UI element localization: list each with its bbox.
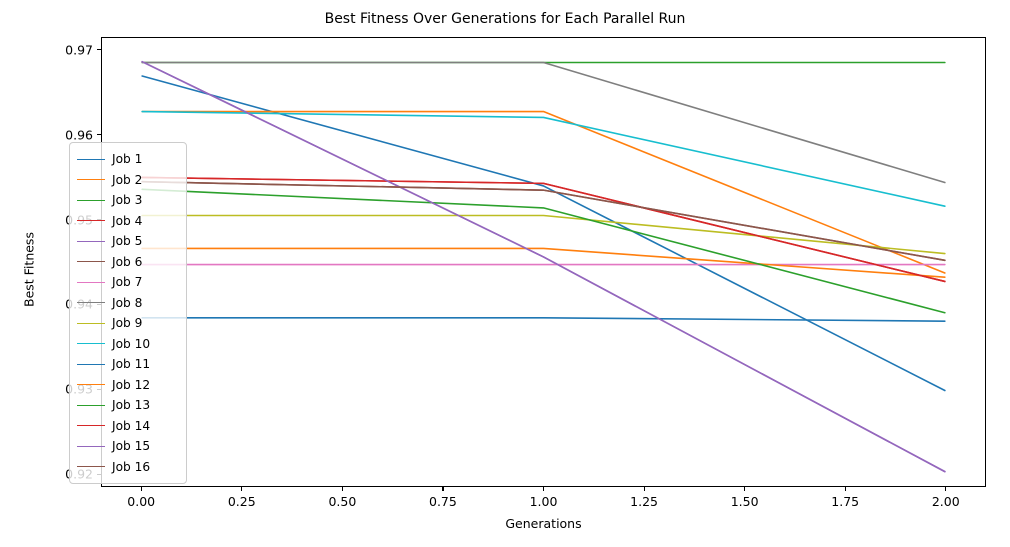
legend-color-swatch — [77, 405, 105, 406]
legend-label: Job 10 — [112, 338, 150, 350]
legend-color-swatch — [77, 282, 105, 283]
legend-label: Job 5 — [112, 235, 142, 247]
x-tick-label: 0.25 — [212, 494, 272, 509]
legend-item-job-6[interactable]: Job 6 — [77, 252, 179, 273]
legend-label: Job 13 — [112, 399, 150, 411]
line-series — [142, 76, 945, 390]
line-series — [142, 177, 945, 281]
x-axis-label: Generations — [101, 516, 986, 531]
legend-label: Job 6 — [112, 256, 142, 268]
legend-color-swatch — [77, 261, 105, 262]
legend-label: Job 3 — [112, 194, 142, 206]
legend-item-job-9[interactable]: Job 9 — [77, 313, 179, 334]
legend-color-swatch — [77, 446, 105, 447]
legend-color-swatch — [77, 343, 105, 344]
legend-item-job-5[interactable]: Job 5 — [77, 231, 179, 252]
legend-label: Job 4 — [112, 215, 142, 227]
x-tick-label: 1.00 — [514, 494, 574, 509]
legend-item-job-14[interactable]: Job 14 — [77, 416, 179, 437]
legend-item-job-13[interactable]: Job 13 — [77, 395, 179, 416]
legend-item-job-8[interactable]: Job 8 — [77, 293, 179, 314]
line-series — [142, 62, 945, 472]
legend-item-job-15[interactable]: Job 15 — [77, 436, 179, 457]
x-tick-mark — [342, 487, 343, 491]
legend-item-job-1[interactable]: Job 1 — [77, 149, 179, 170]
plot-area — [101, 37, 986, 487]
figure-canvas: Best Fitness Over Generations for Each P… — [0, 0, 1010, 547]
legend-item-job-3[interactable]: Job 3 — [77, 190, 179, 211]
legend-color-swatch — [77, 159, 105, 160]
x-tick-mark — [141, 487, 142, 491]
x-tick-label: 2.00 — [916, 494, 976, 509]
legend-color-swatch — [77, 466, 105, 467]
legend-item-job-7[interactable]: Job 7 — [77, 272, 179, 293]
legend-item-job-12[interactable]: Job 12 — [77, 375, 179, 396]
x-tick-label: 0.00 — [111, 494, 171, 509]
legend-color-swatch — [77, 323, 105, 324]
x-tick-mark — [543, 487, 544, 491]
legend-color-swatch — [77, 302, 105, 303]
x-tick-label: 0.50 — [312, 494, 372, 509]
x-tick-mark — [845, 487, 846, 491]
legend-label: Job 12 — [112, 379, 150, 391]
line-series — [142, 63, 945, 183]
x-tick-mark — [744, 487, 745, 491]
legend-item-job-11[interactable]: Job 11 — [77, 354, 179, 375]
line-series — [142, 318, 945, 321]
line-series — [142, 177, 945, 281]
y-tick-label: 0.97 — [33, 42, 93, 57]
legend-label: Job 2 — [112, 174, 142, 186]
legend-color-swatch — [77, 364, 105, 365]
legend-color-swatch — [77, 179, 105, 180]
legend-label: Job 14 — [112, 420, 150, 432]
line-series — [142, 189, 945, 312]
legend-label: Job 11 — [112, 358, 150, 370]
legend-label: Job 8 — [112, 297, 142, 309]
x-tick-label: 1.75 — [815, 494, 875, 509]
line-series — [142, 62, 945, 472]
x-tick-mark — [241, 487, 242, 491]
legend-item-job-10[interactable]: Job 10 — [77, 334, 179, 355]
x-tick-label: 1.50 — [715, 494, 775, 509]
chart-title: Best Fitness Over Generations for Each P… — [0, 11, 1010, 27]
legend-color-swatch — [77, 220, 105, 221]
legend-label: Job 16 — [112, 461, 150, 473]
y-tick-label: 0.96 — [33, 127, 93, 142]
legend-item-job-2[interactable]: Job 2 — [77, 170, 179, 191]
legend-label: Job 1 — [112, 153, 142, 165]
legend-item-job-16[interactable]: Job 16 — [77, 457, 179, 478]
legend-label: Job 7 — [112, 276, 142, 288]
legend-label: Job 15 — [112, 440, 150, 452]
legend[interactable]: Job 1Job 2Job 3Job 4Job 5Job 6Job 7Job 8… — [69, 142, 187, 484]
legend-item-job-4[interactable]: Job 4 — [77, 211, 179, 232]
legend-label: Job 9 — [112, 317, 142, 329]
legend-color-swatch — [77, 200, 105, 201]
x-tick-label: 0.75 — [413, 494, 473, 509]
x-tick-mark — [442, 487, 443, 491]
x-tick-label: 1.25 — [614, 494, 674, 509]
legend-color-swatch — [77, 425, 105, 426]
legend-color-swatch — [77, 384, 105, 385]
x-tick-mark — [644, 487, 645, 491]
legend-color-swatch — [77, 241, 105, 242]
line-series-group — [102, 38, 985, 486]
line-series — [142, 112, 945, 207]
x-tick-mark — [945, 487, 946, 491]
